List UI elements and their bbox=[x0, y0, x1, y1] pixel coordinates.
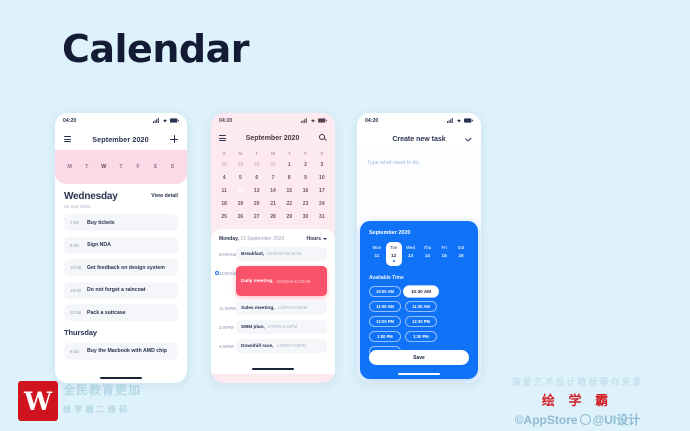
month-day-cell[interactable]: 14 bbox=[265, 185, 281, 198]
save-button[interactable]: Save bbox=[369, 350, 469, 365]
timeline-time: 09:00AM bbox=[219, 247, 236, 257]
picker-month-label: September 2020 bbox=[369, 230, 469, 236]
watermark-brand: 绘 学 霸 bbox=[475, 390, 680, 409]
status-time: 04:20 bbox=[219, 118, 232, 124]
status-bar: 04:20 bbox=[357, 113, 481, 128]
month-grid[interactable]: SMTWTFS282930311234567891011121314151617… bbox=[211, 148, 335, 224]
search-icon[interactable] bbox=[319, 134, 327, 142]
sheet-date: Monday, 12 September 2020 bbox=[219, 236, 284, 242]
day-option-number: 11 bbox=[369, 253, 385, 258]
month-day-cell[interactable]: 29 bbox=[281, 211, 297, 224]
task-item[interactable]: 7:20Buy tickets bbox=[64, 214, 178, 231]
month-weekday-4: T bbox=[281, 148, 297, 159]
timeline-time: 11:00PM bbox=[219, 301, 236, 311]
watermark-logo: W bbox=[18, 381, 58, 421]
status-bar: 04:20 bbox=[55, 113, 187, 128]
task-time: 7:20 bbox=[70, 220, 87, 225]
month-day-cell[interactable]: 9 bbox=[297, 172, 313, 185]
phone-mockup-create-task: 04:20 Create new task bbox=[357, 113, 481, 383]
status-time: 04:20 bbox=[63, 118, 76, 124]
day-option-number: 14 bbox=[419, 253, 435, 258]
wifi-icon bbox=[162, 118, 168, 123]
battery-icon bbox=[170, 118, 179, 123]
signal-icon bbox=[301, 118, 308, 123]
next-day-task-list: 9:40Buy the Macbook with AMD chip bbox=[64, 343, 178, 360]
phone2-header: September 2020 bbox=[211, 128, 335, 148]
month-day-cell[interactable]: 1 bbox=[281, 159, 297, 172]
time-slot[interactable]: 1:00 PM bbox=[369, 331, 401, 342]
month-weekday-3: W bbox=[265, 148, 281, 159]
month-weekday-0: S bbox=[216, 148, 232, 159]
task-item[interactable]: 9:40Sign NDA bbox=[64, 237, 178, 254]
month-day-cell[interactable]: 28 bbox=[216, 159, 232, 172]
month-day-cell[interactable]: 25 bbox=[216, 211, 232, 224]
month-day-cell[interactable]: 30 bbox=[297, 211, 313, 224]
task-list: 7:20Buy tickets9:40Sign NDA10:00Get feed… bbox=[64, 214, 178, 321]
month-day-cell[interactable]: 3 bbox=[314, 159, 330, 172]
timeline-time: 4:00PM bbox=[219, 339, 236, 349]
event-range: 09:00AM-09:30AM bbox=[267, 251, 301, 256]
sheet-header: Monday, 12 September 2020 Hours bbox=[219, 236, 327, 242]
home-indicator bbox=[100, 377, 142, 379]
event-name: Downhill race, bbox=[241, 344, 274, 349]
month-day-cell[interactable]: 2 bbox=[297, 159, 313, 172]
event-range: 10:00AM-11:00AM bbox=[277, 279, 311, 284]
phone-mockup-month: 04:20 September 2020 bbox=[211, 113, 335, 383]
page-title: Calendar bbox=[62, 27, 249, 71]
task-item[interactable]: 9:40Buy the Macbook with AMD chip bbox=[64, 343, 178, 360]
month-week-row: 11121314151617 bbox=[216, 185, 330, 198]
watermark-right-faint: 海量艺术设计教程等你来拿 bbox=[475, 375, 680, 388]
month-weekday-5: F bbox=[297, 148, 313, 159]
month-day-cell[interactable]: 16 bbox=[297, 185, 313, 198]
month-day-cell[interactable]: 15 bbox=[281, 185, 297, 198]
day-option-number: 15 bbox=[436, 253, 452, 258]
month-day-cell[interactable]: 17 bbox=[314, 185, 330, 198]
available-time-label: Available Time bbox=[369, 275, 469, 281]
phone1-month-title: September 2020 bbox=[92, 135, 149, 144]
next-day-name: Thursday bbox=[64, 328, 178, 337]
status-bar: 04:20 bbox=[211, 113, 335, 128]
day-detail-sheet: Monday, 12 September 2020 Hours 09:00AMB… bbox=[211, 229, 335, 374]
timeline-row[interactable]: 10:00AMDaily meeting,10:00AM-11:00AM bbox=[219, 266, 327, 296]
event-name: SMM plan, bbox=[241, 325, 265, 330]
status-indicators bbox=[153, 118, 179, 123]
time-slot[interactable]: 1:30 PM bbox=[405, 331, 437, 342]
timeline-row[interactable]: 11:00PMSales meeting,1:00PM-2:00PM bbox=[219, 301, 327, 315]
month-day-cell[interactable]: 31 bbox=[265, 159, 281, 172]
day-option-number: 16 bbox=[453, 253, 469, 258]
weekday-strip: MTWTFSS bbox=[55, 150, 187, 184]
day-option[interactable]: Mon11 bbox=[369, 242, 385, 266]
phone2-month-title: September 2020 bbox=[246, 135, 300, 142]
task-time: 22:00 bbox=[70, 310, 87, 315]
status-indicators bbox=[447, 118, 473, 123]
watermark-left-text: 全民教育更加 绘 学 霸 二 维 码 bbox=[63, 381, 233, 419]
wifi-icon bbox=[310, 118, 316, 123]
event-range: 4:00PM-7:00PM bbox=[277, 343, 307, 348]
task-time: 9:40 bbox=[70, 349, 87, 354]
day-picker[interactable]: Mon11Tue12Wed13Thu14Fri15Sat16 bbox=[369, 242, 469, 266]
month-week-row: 28293031123 bbox=[216, 159, 330, 172]
timeline-event-card[interactable]: Sales meeting,1:00PM-2:00PM bbox=[236, 301, 327, 315]
day-option-name: Mon bbox=[369, 245, 385, 250]
month-day-cell[interactable]: 4 bbox=[216, 172, 232, 185]
day-option-name: Fri bbox=[436, 245, 452, 250]
timeline-time: 2:00PM bbox=[219, 320, 236, 330]
watermark-right: 海量艺术设计教程等你来拿 绘 学 霸 ©AppStore @UI设计 bbox=[475, 375, 680, 428]
month-day-cell[interactable]: 11 bbox=[216, 185, 232, 198]
day-option-number: 13 bbox=[403, 253, 419, 258]
day-date: 25 Sep 2020 bbox=[64, 204, 118, 209]
status-time: 04:20 bbox=[365, 118, 378, 124]
weekday-4[interactable]: F bbox=[130, 161, 147, 174]
check-icon[interactable] bbox=[465, 137, 472, 143]
day-option-name: Wed bbox=[403, 245, 419, 250]
weekday-6[interactable]: S bbox=[164, 161, 181, 174]
hamburger-icon[interactable] bbox=[219, 135, 226, 140]
home-indicator bbox=[252, 368, 294, 370]
task-item[interactable]: 22:00Pack a suitcase bbox=[64, 304, 178, 321]
hours-filter-label: Hours bbox=[307, 236, 321, 242]
schedule-picker-card: September 2020 Mon11Tue12Wed13Thu14Fri15… bbox=[360, 221, 478, 379]
task-label: Do not forget a raincoat bbox=[87, 287, 146, 293]
battery-icon bbox=[318, 118, 327, 123]
month-day-cell[interactable]: 23 bbox=[297, 198, 313, 211]
month-day-cell[interactable]: 7 bbox=[265, 172, 281, 185]
weekday-5[interactable]: S bbox=[147, 161, 164, 174]
timeline-row[interactable]: 2:00PMSMM plan,2:00PM-4:00PM bbox=[219, 320, 327, 334]
sheet-day-label: Monday, bbox=[219, 236, 239, 242]
day-header-text: Wednesday 25 Sep 2020 bbox=[64, 191, 118, 209]
month-day-cell[interactable]: 24 bbox=[314, 198, 330, 211]
month-day-cell[interactable]: 8 bbox=[281, 172, 297, 185]
task-label: Buy the Macbook with AMD chip bbox=[87, 348, 167, 354]
time-slot[interactable]: 10:30 AM bbox=[403, 285, 439, 297]
watermark-left-line2: 绘 学 霸 二 维 码 bbox=[63, 400, 233, 419]
month-week-row: 45678910 bbox=[216, 172, 330, 185]
hours-filter-dropdown[interactable]: Hours bbox=[307, 236, 327, 242]
battery-icon bbox=[464, 118, 473, 123]
month-day-cell[interactable]: 27 bbox=[249, 211, 265, 224]
task-label: Get feedback on design system bbox=[87, 265, 165, 271]
day-option-name: Tue bbox=[386, 245, 402, 250]
day-name: Wednesday bbox=[64, 191, 118, 202]
month-day-cell[interactable]: 30 bbox=[249, 159, 265, 172]
timeline-event-card[interactable]: Breakfast,09:00AM-09:30AM bbox=[236, 247, 327, 261]
home-indicator bbox=[398, 373, 440, 375]
event-range: 1:00PM-2:00PM bbox=[278, 305, 308, 310]
event-name: Sales meeting, bbox=[241, 306, 275, 311]
watermark-left-line1: 全民教育更加 bbox=[63, 381, 233, 400]
month-day-cell[interactable]: 13 bbox=[249, 185, 265, 198]
task-name-input[interactable]: Type what need to do.. bbox=[357, 151, 481, 166]
create-task-title: Create new task bbox=[392, 136, 445, 143]
timeline-event-card[interactable]: Daily meeting,10:00AM-11:00AM bbox=[236, 266, 327, 296]
month-day-cell[interactable]: 31 bbox=[314, 211, 330, 224]
month-week-row: 25262728293031 bbox=[216, 211, 330, 224]
month-weekday-6: S bbox=[314, 148, 330, 159]
watermark-handle: @UI设计 bbox=[593, 411, 641, 428]
timeline-row[interactable]: 09:00AMBreakfast,09:00AM-09:30AM bbox=[219, 247, 327, 261]
task-label: Sign NDA bbox=[87, 242, 111, 248]
timeline-event-card[interactable]: SMM plan,2:00PM-4:00PM bbox=[236, 320, 327, 334]
weekday-1[interactable]: T bbox=[78, 161, 95, 174]
month-weekday-header: SMTWTFS bbox=[216, 148, 330, 159]
month-day-cell[interactable]: 10 bbox=[314, 172, 330, 185]
screenshot-canvas: Calendar 04:20 bbox=[0, 0, 690, 431]
timeline-time: 10:00AM bbox=[219, 266, 236, 276]
logo-glyph: W bbox=[24, 389, 52, 414]
month-weekday-1: M bbox=[232, 148, 248, 159]
weekday-0[interactable]: M bbox=[61, 161, 78, 174]
phone1-agenda-body: Wednesday 25 Sep 2020 View detail 7:20Bu… bbox=[55, 184, 187, 383]
time-slot[interactable]: 11:00 AM bbox=[369, 301, 401, 312]
day-option[interactable]: Fri15 bbox=[436, 242, 452, 266]
day-option[interactable]: Wed13 bbox=[403, 242, 419, 266]
month-weekday-2: T bbox=[249, 148, 265, 159]
signal-icon bbox=[447, 118, 454, 123]
timeline-current-dot bbox=[215, 271, 219, 275]
time-slot-grid[interactable]: 10:00 AM10:30 AM11:00 AM11:30 AM12:00 PM… bbox=[369, 286, 469, 357]
month-day-cell[interactable]: 26 bbox=[232, 211, 248, 224]
month-day-cell[interactable]: 12 bbox=[232, 185, 248, 198]
phone-mockup-agenda: 04:20 September 2020 bbox=[55, 113, 187, 383]
task-label: Buy tickets bbox=[87, 220, 115, 226]
month-day-cell[interactable]: 20 bbox=[249, 198, 265, 211]
sheet-date-label: 12 September 2020 bbox=[240, 236, 284, 242]
task-time: 19:00 bbox=[70, 288, 87, 293]
month-day-cell[interactable]: 18 bbox=[216, 198, 232, 211]
month-day-cell[interactable]: 6 bbox=[249, 172, 265, 185]
event-range: 2:00PM-4:00PM bbox=[268, 324, 298, 329]
phone1-header: September 2020 bbox=[55, 128, 187, 150]
task-time: 9:40 bbox=[70, 243, 87, 248]
month-day-cell[interactable]: 19 bbox=[232, 198, 248, 211]
chevron-down-icon bbox=[323, 238, 327, 240]
plus-icon[interactable] bbox=[170, 135, 178, 143]
day-header-row: Wednesday 25 Sep 2020 View detail bbox=[64, 191, 178, 209]
day-option[interactable]: Thu14 bbox=[419, 242, 435, 266]
weekday-3[interactable]: T bbox=[112, 161, 129, 174]
timeline-row[interactable]: 4:00PMDownhill race,4:00PM-7:00PM bbox=[219, 339, 327, 353]
month-day-cell[interactable]: 22 bbox=[281, 198, 297, 211]
month-day-cell[interactable]: 5 bbox=[232, 172, 248, 185]
weekday-2[interactable]: W bbox=[95, 161, 112, 174]
task-item[interactable]: 10:00Get feedback on design system bbox=[64, 259, 178, 276]
timeline-event-card[interactable]: Downhill race,4:00PM-7:00PM bbox=[236, 339, 327, 353]
month-day-cell[interactable]: 21 bbox=[265, 198, 281, 211]
time-slot[interactable]: 10:00 AM bbox=[369, 286, 401, 297]
view-detail-button[interactable]: View detail bbox=[151, 193, 178, 199]
day-option[interactable]: Tue12 bbox=[386, 242, 402, 266]
status-indicators bbox=[301, 118, 327, 123]
task-label: Pack a suitcase bbox=[87, 310, 126, 316]
day-option-number: 12 bbox=[386, 253, 402, 258]
month-week-row: 18192021222324 bbox=[216, 198, 330, 211]
task-time: 10:00 bbox=[70, 265, 87, 270]
day-option[interactable]: Sat16 bbox=[453, 242, 469, 266]
day-option-name: Thu bbox=[419, 245, 435, 250]
hamburger-icon[interactable] bbox=[64, 136, 71, 141]
task-item[interactable]: 19:00Do not forget a raincoat bbox=[64, 282, 178, 299]
month-day-cell[interactable]: 28 bbox=[265, 211, 281, 224]
signal-icon bbox=[153, 118, 160, 123]
event-name: Breakfast, bbox=[241, 252, 264, 257]
watermark-appstore: ©AppStore bbox=[515, 413, 578, 427]
time-slot[interactable]: 11:30 AM bbox=[405, 301, 437, 312]
phone3-header: Create new task bbox=[357, 128, 481, 151]
timeline-list: 09:00AMBreakfast,09:00AM-09:30AM10:00AMD… bbox=[219, 247, 327, 353]
day-option-name: Sat bbox=[453, 245, 469, 250]
weibo-icon bbox=[580, 414, 591, 425]
time-slot[interactable]: 12:00 PM bbox=[369, 316, 401, 327]
time-slot[interactable]: 12:30 PM bbox=[405, 316, 437, 327]
wifi-icon bbox=[456, 118, 462, 123]
month-day-cell[interactable]: 29 bbox=[232, 159, 248, 172]
watermark-bottom-line: ©AppStore @UI设计 bbox=[475, 411, 680, 428]
event-name: Daily meeting, bbox=[241, 279, 274, 284]
